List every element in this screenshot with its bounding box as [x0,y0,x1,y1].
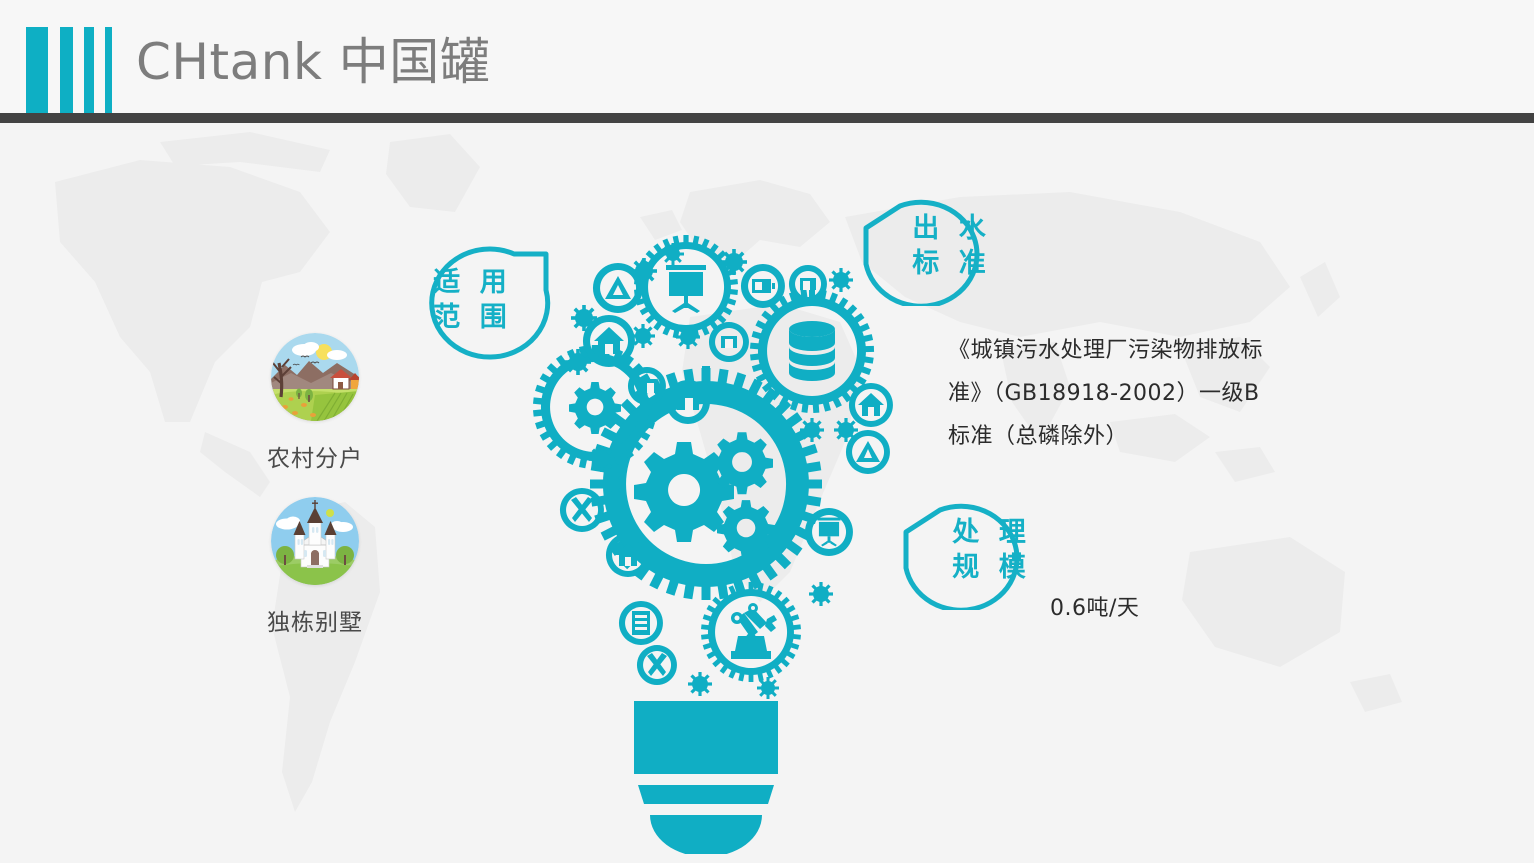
effluent-standard-text: 《城镇污水处理厂污染物排放标准》（GB18918-2002）一级B标准（总磷除外… [948,329,1278,458]
logo-bar-2 [60,27,73,113]
bar-logo-icon [26,27,112,113]
thumbnail-rural-label: 农村分户 [240,439,390,473]
thumbnail-villa: 独栋别墅 [240,497,390,637]
rural-village-illustration [271,333,359,421]
callout-effluent: 出 水 标 准 [860,188,1010,306]
callout-scale-text: 处 理 规 模 [914,492,1064,610]
page-title: CHtank 中国罐 [136,28,490,96]
callout-scope-line2: 范 围 [428,301,511,336]
page-header: CHtank 中国罐 [0,0,1534,113]
callout-effluent-line2: 标 准 [907,247,990,282]
detached-villa-illustration [271,497,359,585]
lightbulb-gears-illustration [516,214,896,854]
callout-effluent-text: 出 水 标 准 [874,188,1024,306]
callout-scope: 适 用 范 围 [396,238,556,360]
callout-effluent-line1: 出 水 [907,212,990,247]
logo-bar-1 [26,27,48,113]
callout-scope-text: 适 用 范 围 [390,240,550,362]
callout-scale: 处 理 规 模 [900,492,1050,610]
header-divider [0,113,1534,123]
logo-bar-3 [84,27,94,113]
callout-scope-line1: 适 用 [428,266,511,301]
callout-scale-line2: 规 模 [947,551,1030,586]
callout-scale-line1: 处 理 [947,516,1030,551]
logo-bar-4 [105,27,112,113]
thumbnail-villa-label: 独栋别墅 [240,603,390,637]
thumbnail-rural: 农村分户 [240,333,390,473]
treatment-scale-text: 0.6吨/天 [1050,590,1139,622]
